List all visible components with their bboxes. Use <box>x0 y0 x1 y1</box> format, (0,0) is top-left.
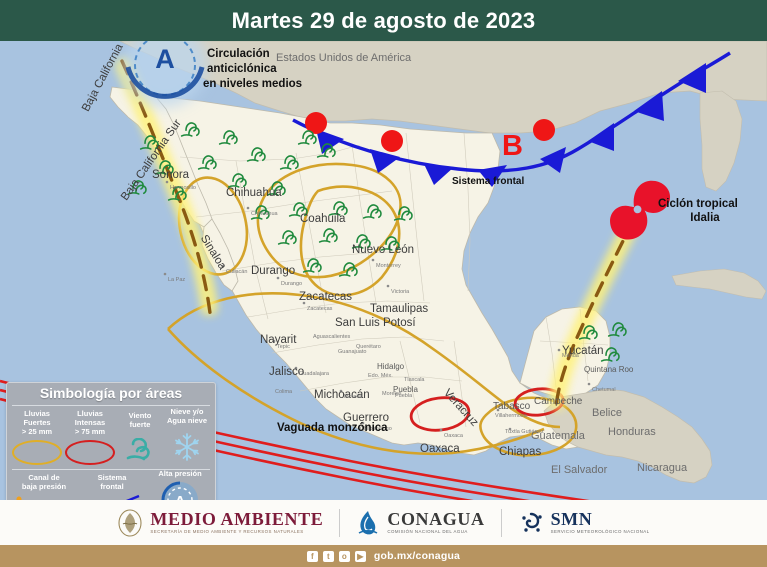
brand-medio-ambiente-text: MEDIO AMBIENTE SECRETARÍA DE MEDIO AMBIE… <box>150 510 323 535</box>
legend-caption-lluvias-intensas-l2: Intensas <box>63 418 117 427</box>
legend-caption-lluvias-fuertes-l3: > 25 mm <box>11 427 63 436</box>
mexico-eagle-seal-icon <box>117 508 143 538</box>
page-title: Martes 29 de agosto de 2023 <box>0 0 767 41</box>
legend-caption-alta-presion: Alta presión <box>147 469 213 478</box>
legend-caption-frontal-l2: frontal <box>81 482 143 491</box>
svg-text:A: A <box>175 493 186 500</box>
legend-caption-frontal-l1: Sistema <box>81 473 143 482</box>
legend-caption-nieve-l2: Agua nieve <box>159 416 215 425</box>
legend-caption-nieve-l1: Nieve y/o <box>159 407 215 416</box>
legend-item-viento-fuerte: Viento fuerte <box>117 411 163 468</box>
tropical-cyclone-annotation-line2: Idalia <box>658 212 752 225</box>
legend-title: Simbología por áreas <box>7 385 215 401</box>
anticyclone-annotation-line3: en niveles medios <box>203 78 302 91</box>
legend-caption-viento-fuerte-l1: Viento <box>117 411 163 420</box>
legend-item-lluvias-intensas: Lluvias Intensas > 75 mm <box>63 409 117 466</box>
brand-smn: SMN SERVICIO METEOROLÓGICO NACIONAL <box>502 508 666 538</box>
high-pressure-icon: A <box>147 480 213 500</box>
legend-symbol-wrapper-viento-fuerte <box>117 438 163 468</box>
legend-item-alta-presion: Alta presión A <box>147 469 213 500</box>
instagram-icon-glyph: o <box>339 551 350 562</box>
brand-conagua-text: CONAGUA COMISIÓN NACIONAL DEL AGUA <box>387 510 484 535</box>
low-pressure-letter: B <box>502 130 523 163</box>
conagua-wave-icon <box>356 508 380 538</box>
legend-symbol-wrapper-alta-presion: A <box>147 480 213 500</box>
legend-caption-lluvias-fuertes-l2: Fuertes <box>11 418 63 427</box>
tropical-cyclone-annotation-line1: Ciclón tropical <box>658 198 738 211</box>
twitter-icon-glyph: t <box>323 551 334 562</box>
legend-symbol-wrapper-lluvias-fuertes <box>11 436 63 466</box>
footer-brand-row: MEDIO AMBIENTE SECRETARÍA DE MEDIO AMBIE… <box>0 500 767 545</box>
anticyclone-annotation-line1: Circulación <box>207 48 270 61</box>
smn-spiral-icon <box>518 508 544 538</box>
yellow-ellipse-icon <box>12 440 62 465</box>
legend-caption-canal-l1: Canal de <box>11 473 77 482</box>
legend-caption-lluvias-fuertes-l1: Lluvias <box>11 409 63 418</box>
anticyclone-annotation-line2: anticiclónica <box>207 63 277 76</box>
monsoon-trough-annotation: Vaguada monzónica <box>277 422 388 435</box>
twitter-icon[interactable]: t <box>323 551 334 562</box>
legend-caption-lluvias-intensas-l3: > 75 mm <box>63 427 117 436</box>
facebook-icon-glyph: f <box>307 551 318 562</box>
legend-caption-canal-l2: baja presión <box>11 482 77 491</box>
instagram-icon[interactable]: o <box>339 551 350 562</box>
frontal-system-annotation: Sistema frontal <box>452 175 524 188</box>
low-pressure-marker-3 <box>533 119 555 141</box>
facebook-icon[interactable]: f <box>307 551 318 562</box>
brand-conagua-sub: COMISIÓN NACIONAL DEL AGUA <box>387 529 484 535</box>
legend-item-canal-baja-presion: Canal de baja presión <box>11 473 77 500</box>
legend-divider-top <box>12 405 210 406</box>
anticyclone-letter: A <box>155 44 175 74</box>
youtube-icon-glyph: ▶ <box>355 551 366 562</box>
red-ellipse-icon <box>65 440 115 465</box>
legend-caption-viento-fuerte-l2: fuerte <box>117 420 163 429</box>
brand-smn-main: SMN <box>551 510 650 529</box>
brand-medio-ambiente-sub: SECRETARÍA DE MEDIO AMBIENTE Y RECURSOS … <box>150 529 323 535</box>
low-pressure-marker-2 <box>381 130 403 152</box>
footer-url-text[interactable]: gob.mx/conagua <box>374 550 460 562</box>
legend-caption-lluvias-intensas-l1: Lluvias <box>63 409 117 418</box>
youtube-icon[interactable]: ▶ <box>355 551 366 562</box>
snowflake-icon <box>159 431 215 463</box>
wind-icon <box>117 438 163 466</box>
brand-conagua-main: CONAGUA <box>387 510 484 529</box>
legend-item-nieve: Nieve y/o Agua nieve <box>159 407 215 461</box>
legend-symbol-wrapper-lluvias-intensas <box>63 436 117 466</box>
brand-smn-text: SMN SERVICIO METEOROLÓGICO NACIONAL <box>551 510 650 535</box>
legend-item-lluvias-fuertes: Lluvias Fuertes > 25 mm <box>11 409 63 466</box>
header-bar: Martes 29 de agosto de 2023 <box>0 0 767 41</box>
map-canvas: A <box>0 41 767 500</box>
legend-panel: Simbología por áreas Lluvias Fuertes > 2… <box>6 382 216 500</box>
legend-item-sistema-frontal: Sistema frontal <box>81 473 143 500</box>
brand-medio-ambiente: MEDIO AMBIENTE SECRETARÍA DE MEDIO AMBIE… <box>101 508 339 538</box>
legend-symbol-wrapper-nieve <box>159 431 215 461</box>
weather-map-page: Martes 29 de agosto de 2023 <box>0 0 767 567</box>
brand-smn-sub: SERVICIO METEOROLÓGICO NACIONAL <box>551 529 650 535</box>
brand-conagua: CONAGUA COMISIÓN NACIONAL DEL AGUA <box>340 508 500 538</box>
footer-social-row: f t o ▶ gob.mx/conagua <box>0 545 767 567</box>
brand-medio-ambiente-main: MEDIO AMBIENTE <box>150 510 323 529</box>
